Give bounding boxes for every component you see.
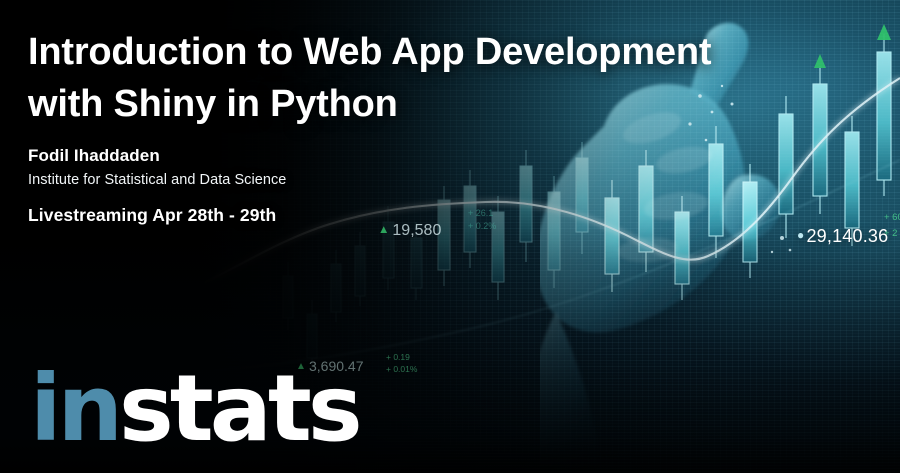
page-title: Introduction to Web App Development with… [28, 26, 788, 130]
presenter-affiliation: Institute for Statistical and Data Scien… [28, 172, 286, 188]
banner-content: Introduction to Web App Development with… [0, 0, 900, 473]
title-line-2: with Shiny in Python [28, 78, 788, 130]
presenter-name: Fodil Ihaddaden [28, 146, 160, 166]
title-line-1: Introduction to Web App Development [28, 26, 788, 78]
logo-part-in: in [30, 355, 119, 462]
instats-logo[interactable]: instats [30, 363, 359, 455]
livestream-dates: Livestreaming Apr 28th - 29th [28, 205, 276, 226]
event-banner: + 26.1 + 0.2% ▲19,580 ▲3,690.47 + 0.19 +… [0, 0, 900, 473]
logo-part-stats: stats [119, 355, 359, 462]
